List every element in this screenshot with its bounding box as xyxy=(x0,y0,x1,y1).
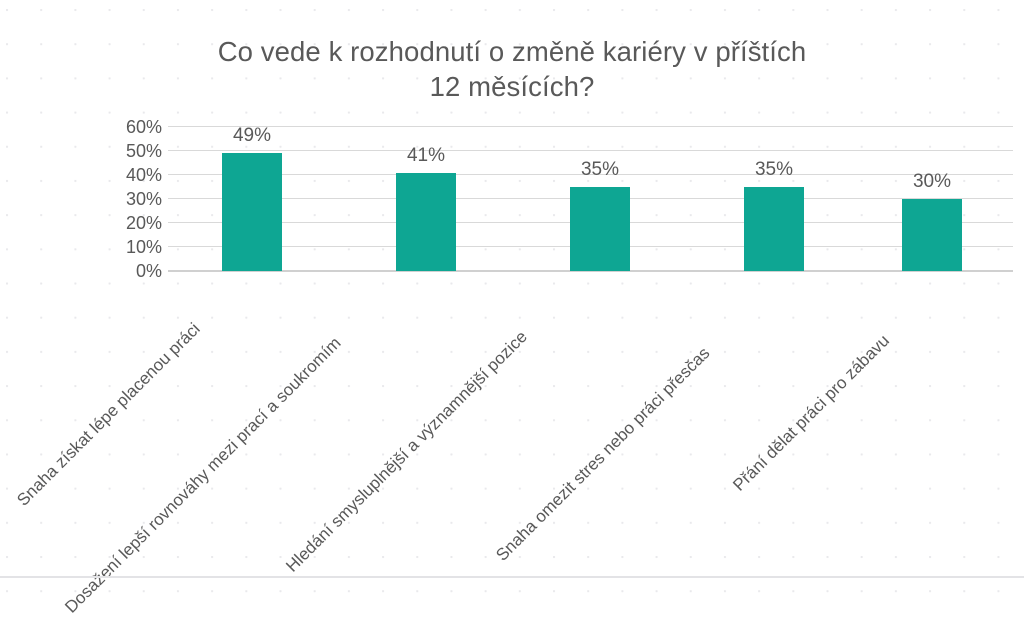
bar-value-label-3: 35% xyxy=(540,160,660,179)
y-axis-tick-10: 10% xyxy=(98,238,162,256)
bar-2[interactable] xyxy=(396,173,456,271)
y-axis-tick-60: 60% xyxy=(98,118,162,136)
x-axis-label-1: Snaha získat lépe placenou práci xyxy=(14,320,203,509)
slide-canvas: Co vede k rozhodnutí o změně kariéry v p… xyxy=(0,0,1024,617)
chart-title-line-1: Co vede k rozhodnutí o změně kariéry v p… xyxy=(0,34,1024,69)
y-axis-tick-40: 40% xyxy=(98,166,162,184)
plot-area: 60% 50% 40% 30% 20% 10% 0% 49% 41% 35% 3… xyxy=(168,126,1013,271)
x-axis-label-4: Snaha omezit stres nebo práci přesčas xyxy=(493,344,713,564)
x-axis-label-3: Hledání smysluplnější a významnější pozi… xyxy=(283,328,530,575)
footer-divider xyxy=(0,576,1024,578)
bar-3[interactable] xyxy=(570,187,630,271)
y-axis-tick-50: 50% xyxy=(98,142,162,160)
gridline-50 xyxy=(168,150,1013,151)
y-axis-tick-0: 0% xyxy=(98,262,162,280)
y-axis-tick-30: 30% xyxy=(98,190,162,208)
chart-title-line-2: 12 měsících? xyxy=(0,69,1024,104)
chart-title: Co vede k rozhodnutí o změně kariéry v p… xyxy=(0,34,1024,104)
bar-value-label-2: 41% xyxy=(366,146,486,165)
bar-5[interactable] xyxy=(902,199,962,271)
bar-value-label-1: 49% xyxy=(192,126,312,145)
bar-value-label-4: 35% xyxy=(714,160,834,179)
y-axis-tick-20: 20% xyxy=(98,214,162,232)
x-axis-label-2: Dosažení lepší rovnováhy mezi prací a so… xyxy=(62,334,344,616)
bar-value-label-5: 30% xyxy=(872,172,992,191)
bar-4[interactable] xyxy=(744,187,804,271)
x-axis-label-5: Přání dělat práci pro zábavu xyxy=(730,332,892,494)
bar-1[interactable] xyxy=(222,153,282,271)
